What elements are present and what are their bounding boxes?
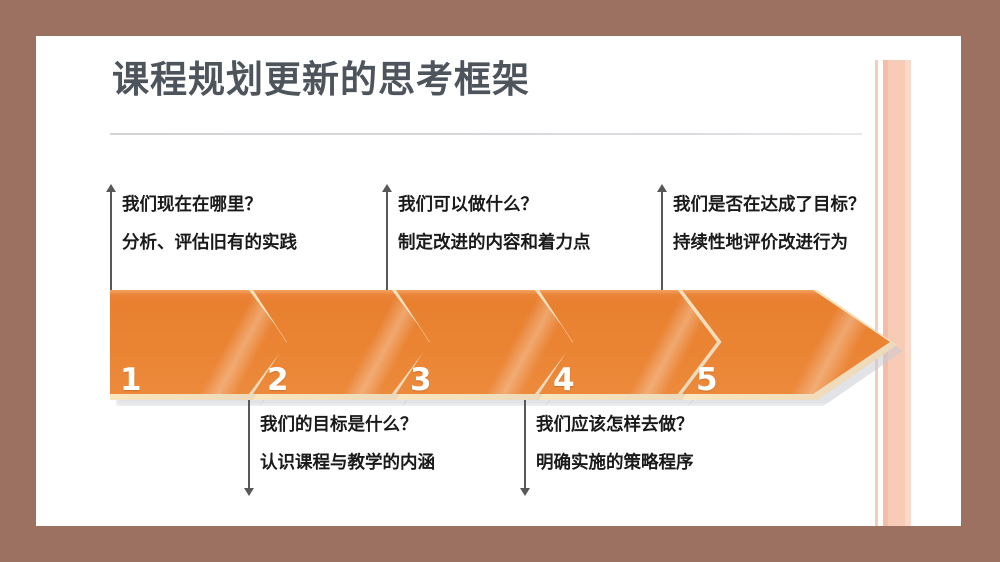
callout-connector-line bbox=[248, 400, 250, 490]
callout-question: 我们的目标是什么？ bbox=[260, 406, 550, 444]
callout-text: 我们应该怎样去做？ 明确实施的策略程序 bbox=[536, 406, 826, 482]
title-divider bbox=[110, 133, 862, 135]
callout-answer: 制定改进的内容和着力点 bbox=[398, 224, 688, 262]
arrow-down-icon bbox=[520, 488, 530, 496]
callout-question: 我们是否在达成了目标？ bbox=[673, 186, 963, 224]
callout-question: 我们可以做什么？ bbox=[398, 186, 688, 224]
title-block: 课程规划更新的思考框架 bbox=[112, 56, 912, 104]
callout-connector-line bbox=[386, 190, 388, 292]
page-title: 课程规划更新的思考框架 bbox=[112, 56, 912, 104]
chevron-step-5[interactable]: 5 bbox=[682, 290, 897, 400]
callout-answer: 分析、评估旧有的实践 bbox=[122, 224, 412, 262]
callout-answer: 持续性地评价改进行为 bbox=[673, 224, 963, 262]
process-chevron-band: 1 2 3 4 bbox=[110, 290, 870, 400]
callout-bottom-step-4: 我们应该怎样去做？ 明确实施的策略程序 bbox=[524, 400, 824, 496]
callout-answer: 认识课程与教学的内涵 bbox=[260, 444, 550, 482]
callout-connector-line bbox=[524, 400, 526, 490]
slide-outer-frame: 课程规划更新的思考框架 我们现在在哪里？ 分析、评估旧有的实践 我们可以做什么？… bbox=[0, 0, 1000, 562]
callout-question: 我们现在在哪里？ bbox=[122, 186, 412, 224]
decorative-stripe-light bbox=[905, 60, 911, 526]
callout-text: 我们是否在达成了目标？ 持续性地评价改进行为 bbox=[673, 186, 963, 262]
callout-answer: 明确实施的策略程序 bbox=[536, 444, 826, 482]
chevron-number: 2 bbox=[267, 365, 289, 396]
callout-top-step-5: 我们是否在达成了目标？ 持续性地评价改进行为 bbox=[661, 184, 961, 292]
chevron-number: 3 bbox=[410, 365, 432, 396]
callout-question: 我们应该怎样去做？ bbox=[536, 406, 826, 444]
chevron-number: 4 bbox=[553, 365, 575, 396]
callout-top-step-1: 我们现在在哪里？ 分析、评估旧有的实践 bbox=[110, 184, 410, 292]
arrow-down-icon bbox=[244, 488, 254, 496]
chevron-number: 1 bbox=[120, 365, 142, 396]
callout-connector-line bbox=[110, 190, 112, 292]
slide-canvas: 课程规划更新的思考框架 我们现在在哪里？ 分析、评估旧有的实践 我们可以做什么？… bbox=[36, 36, 961, 526]
callout-top-step-3: 我们可以做什么？ 制定改进的内容和着力点 bbox=[386, 184, 686, 292]
callout-connector-line bbox=[661, 190, 663, 292]
callout-text: 我们的目标是什么？ 认识课程与教学的内涵 bbox=[260, 406, 550, 482]
chevron-number: 5 bbox=[696, 365, 718, 396]
callout-text: 我们可以做什么？ 制定改进的内容和着力点 bbox=[398, 186, 688, 262]
callout-text: 我们现在在哪里？ 分析、评估旧有的实践 bbox=[122, 186, 412, 262]
callout-bottom-step-2: 我们的目标是什么？ 认识课程与教学的内涵 bbox=[248, 400, 548, 496]
